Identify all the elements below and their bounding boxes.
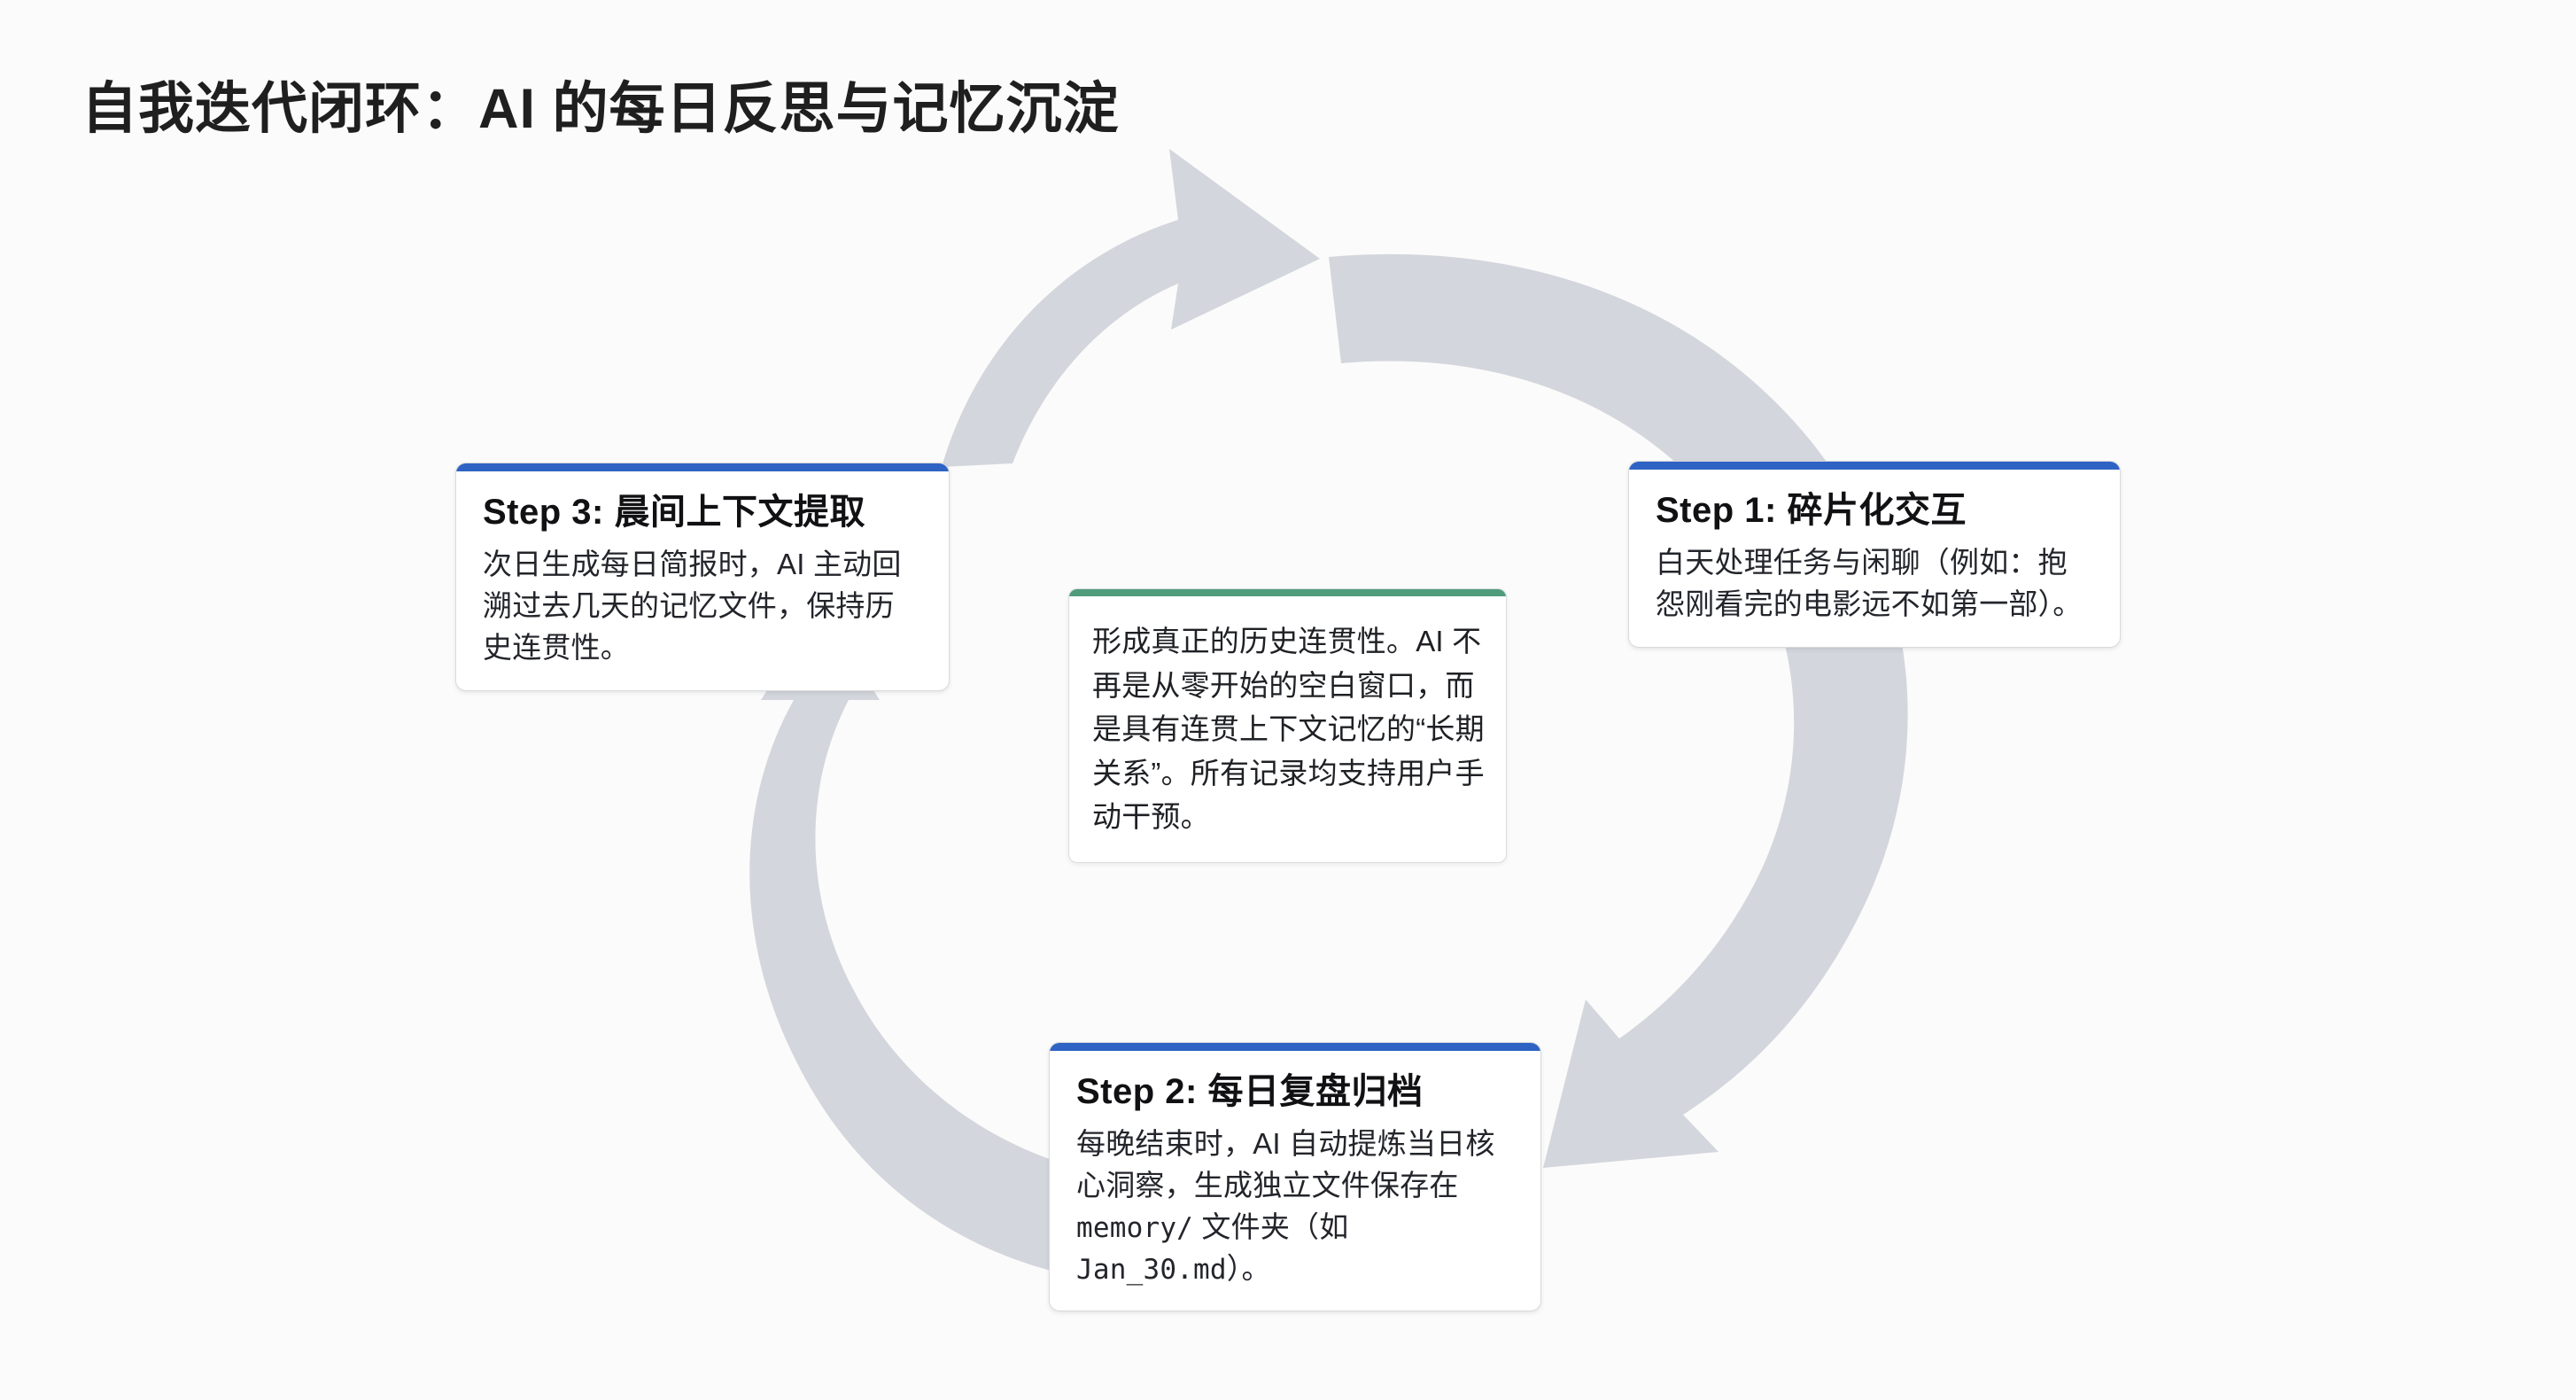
center-summary-accent-bar (1069, 589, 1506, 596)
card-step2-body: Step 2: 每日复盘归档 每晚结束时，AI 自动提炼当日核心洞察，生成独立文… (1050, 1051, 1540, 1311)
card-step3-description: 次日生成每日简报时，AI 主动回溯过去几天的记忆文件，保持历史连贯性。 (483, 544, 922, 669)
inline-code: Jan_30.md (1076, 1254, 1227, 1286)
inline-text: ）。 (1227, 1252, 1271, 1285)
card-step1-body: Step 1: 碎片化交互 白天处理任务与闲聊（例如：抱怨刚看完的电影远不如第一… (1629, 470, 2120, 647)
inline-text: 文件夹（如 (1193, 1210, 1348, 1243)
card-step1-title: Step 1: 碎片化交互 (1656, 489, 2093, 532)
card-step3-body: Step 3: 晨间上下文提取 次日生成每日简报时，AI 主动回溯过去几天的记忆… (456, 471, 949, 690)
card-step1-description: 白天处理任务与闲聊（例如：抱怨刚看完的电影远不如第一部）。 (1656, 542, 2093, 626)
page-title: 自我迭代闭环：AI 的每日反思与记忆沉淀 (81, 64, 1120, 144)
center-summary-inner: 形成真正的历史连贯性。AI 不再是从零开始的空白窗口，而是具有连贯上下文记忆的“… (1069, 596, 1506, 862)
card-step2-accent-bar (1050, 1043, 1540, 1051)
card-step2[interactable]: Step 2: 每日复盘归档 每晚结束时，AI 自动提炼当日核心洞察，生成独立文… (1049, 1042, 1541, 1311)
card-step3-accent-bar (456, 463, 949, 471)
center-summary-text: 形成真正的历史连贯性。AI 不再是从零开始的空白窗口，而是具有连贯上下文记忆的“… (1092, 619, 1485, 839)
card-step3[interactable]: Step 3: 晨间上下文提取 次日生成每日简报时，AI 主动回溯过去几天的记忆… (455, 463, 950, 691)
inline-code: memory/ (1076, 1212, 1193, 1244)
card-step3-title: Step 3: 晨间上下文提取 (483, 491, 922, 533)
arrow-step2-to-step3-icon (749, 606, 1059, 1271)
card-step2-title: Step 2: 每日复盘归档 (1076, 1070, 1514, 1113)
center-summary-box: 形成真正的历史连贯性。AI 不再是从零开始的空白窗口，而是具有连贯上下文记忆的“… (1068, 588, 1507, 863)
card-step1[interactable]: Step 1: 碎片化交互 白天处理任务与闲聊（例如：抱怨刚看完的电影远不如第一… (1628, 461, 2121, 648)
inline-text: 每晚结束时，AI 自动提炼当日核心洞察，生成独立文件保存在 (1076, 1127, 1495, 1202)
slide-canvas: 自我迭代闭环：AI 的每日反思与记忆沉淀 Step 3: 晨间上下文提取 次日生… (0, 0, 2576, 1400)
card-step1-accent-bar (1629, 462, 2120, 470)
card-step2-description: 每晚结束时，AI 自动提炼当日核心洞察，生成独立文件保存在 memory/ 文件… (1076, 1124, 1514, 1289)
arrow-step3-to-step1-icon (942, 149, 1320, 467)
